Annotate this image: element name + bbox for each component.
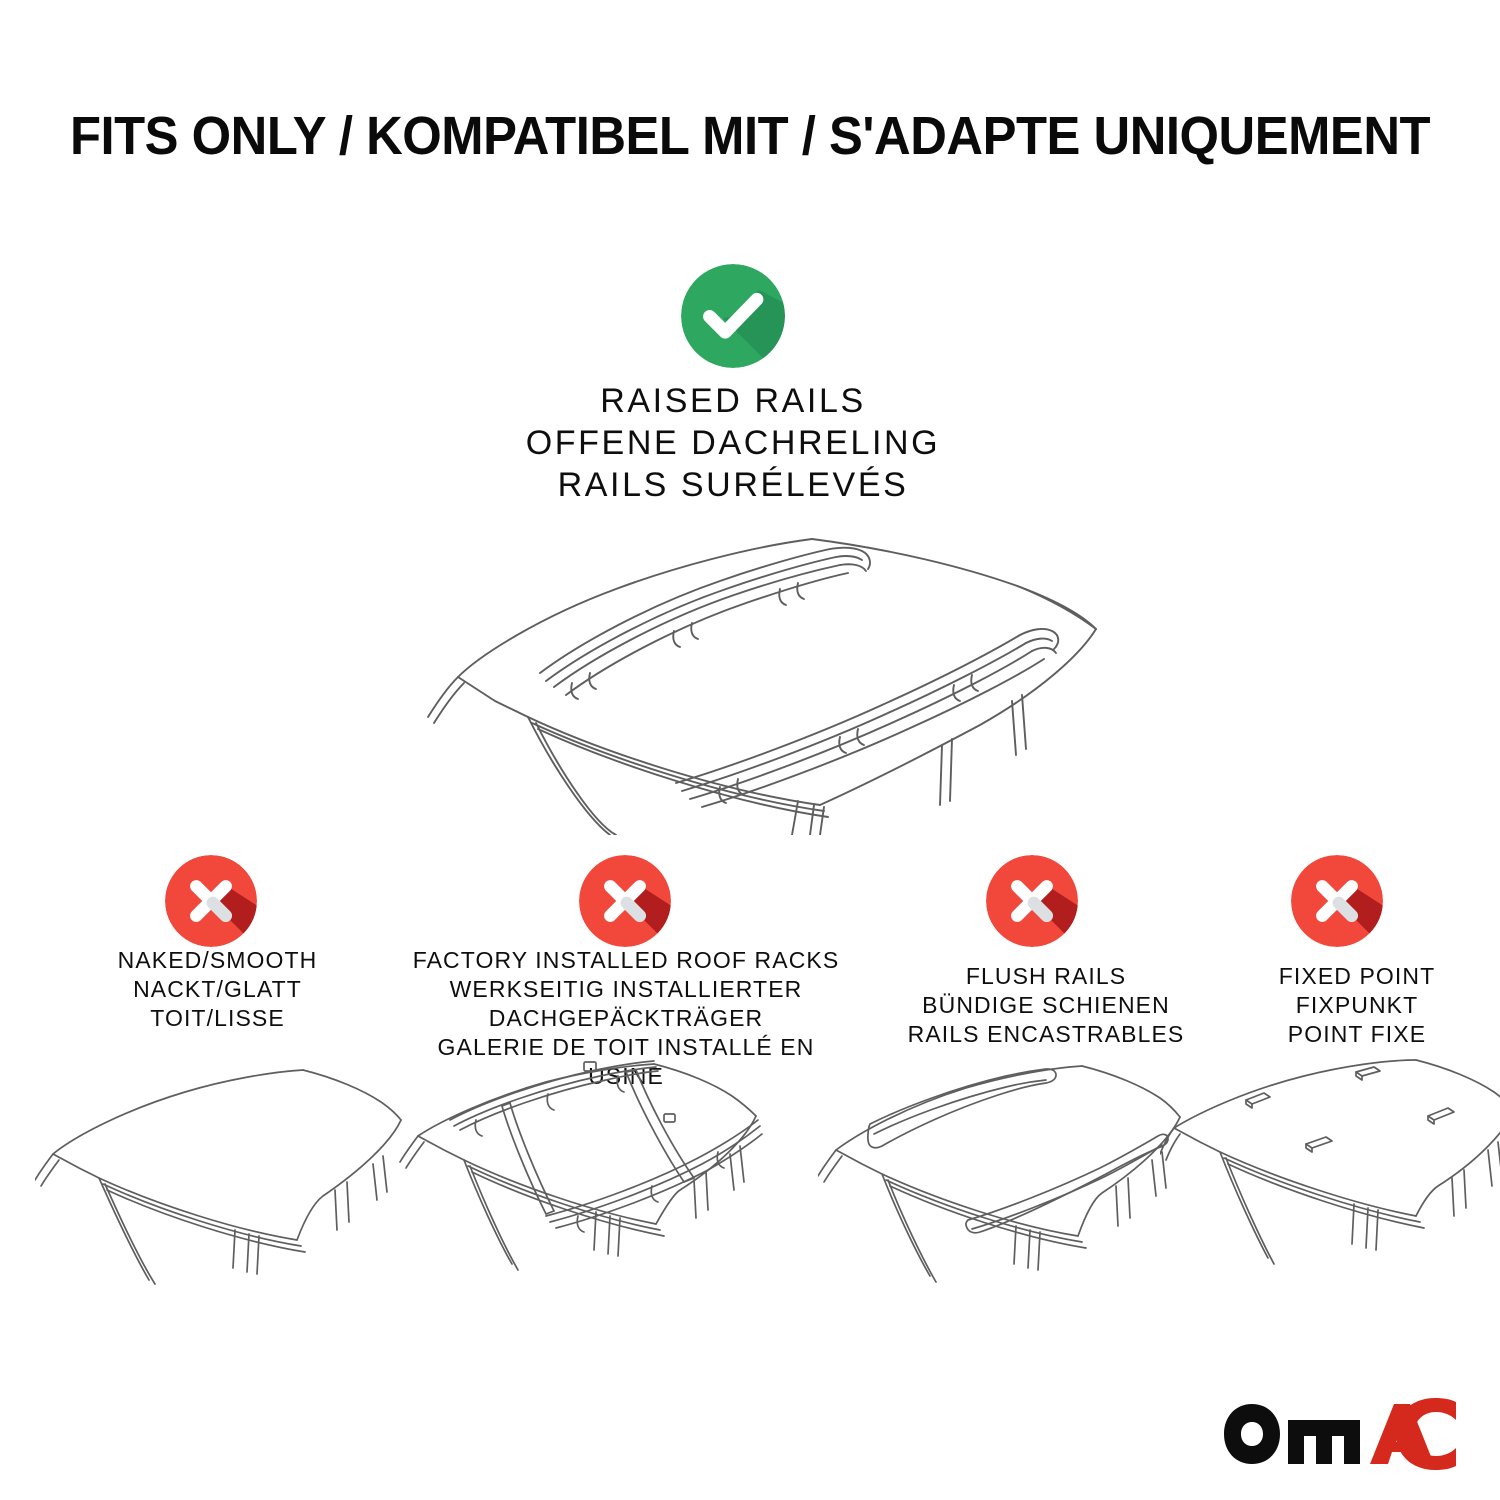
incompatible-label-flush-rails: FLUSH RAILS BÜNDIGE SCHIENEN RAILS ENCAS… [862, 962, 1230, 1049]
cross-circle-icon [165, 855, 257, 947]
incompatible-label-fixed-point: FIXED POINT FIXPUNKT POINT FIXE [1222, 962, 1492, 1049]
compatible-label: RAISED RAILS OFFENE DACHRELING RAILS SUR… [380, 380, 1086, 506]
car-roof-naked-smooth-illustration [35, 1058, 415, 1293]
check-circle-icon [681, 264, 785, 368]
page-title: FITS ONLY / KOMPATIBEL MIT / S'ADAPTE UN… [45, 108, 1455, 164]
car-roof-factory-roof-racks-illustration [398, 1058, 778, 1293]
car-roof-flush-rails-illustration [818, 1058, 1198, 1293]
car-roof-raised-rails-illustration [420, 505, 1100, 835]
cross-circle-icon [579, 855, 671, 947]
incompatible-label-naked-smooth: NAKED/SMOOTH NACKT/GLATT TOIT/LISSE [30, 946, 405, 1033]
cross-circle-icon [1291, 855, 1383, 947]
cross-circle-icon [986, 855, 1078, 947]
car-roof-fixed-point-illustration [1160, 1058, 1500, 1293]
omac-logo [1218, 1398, 1460, 1470]
